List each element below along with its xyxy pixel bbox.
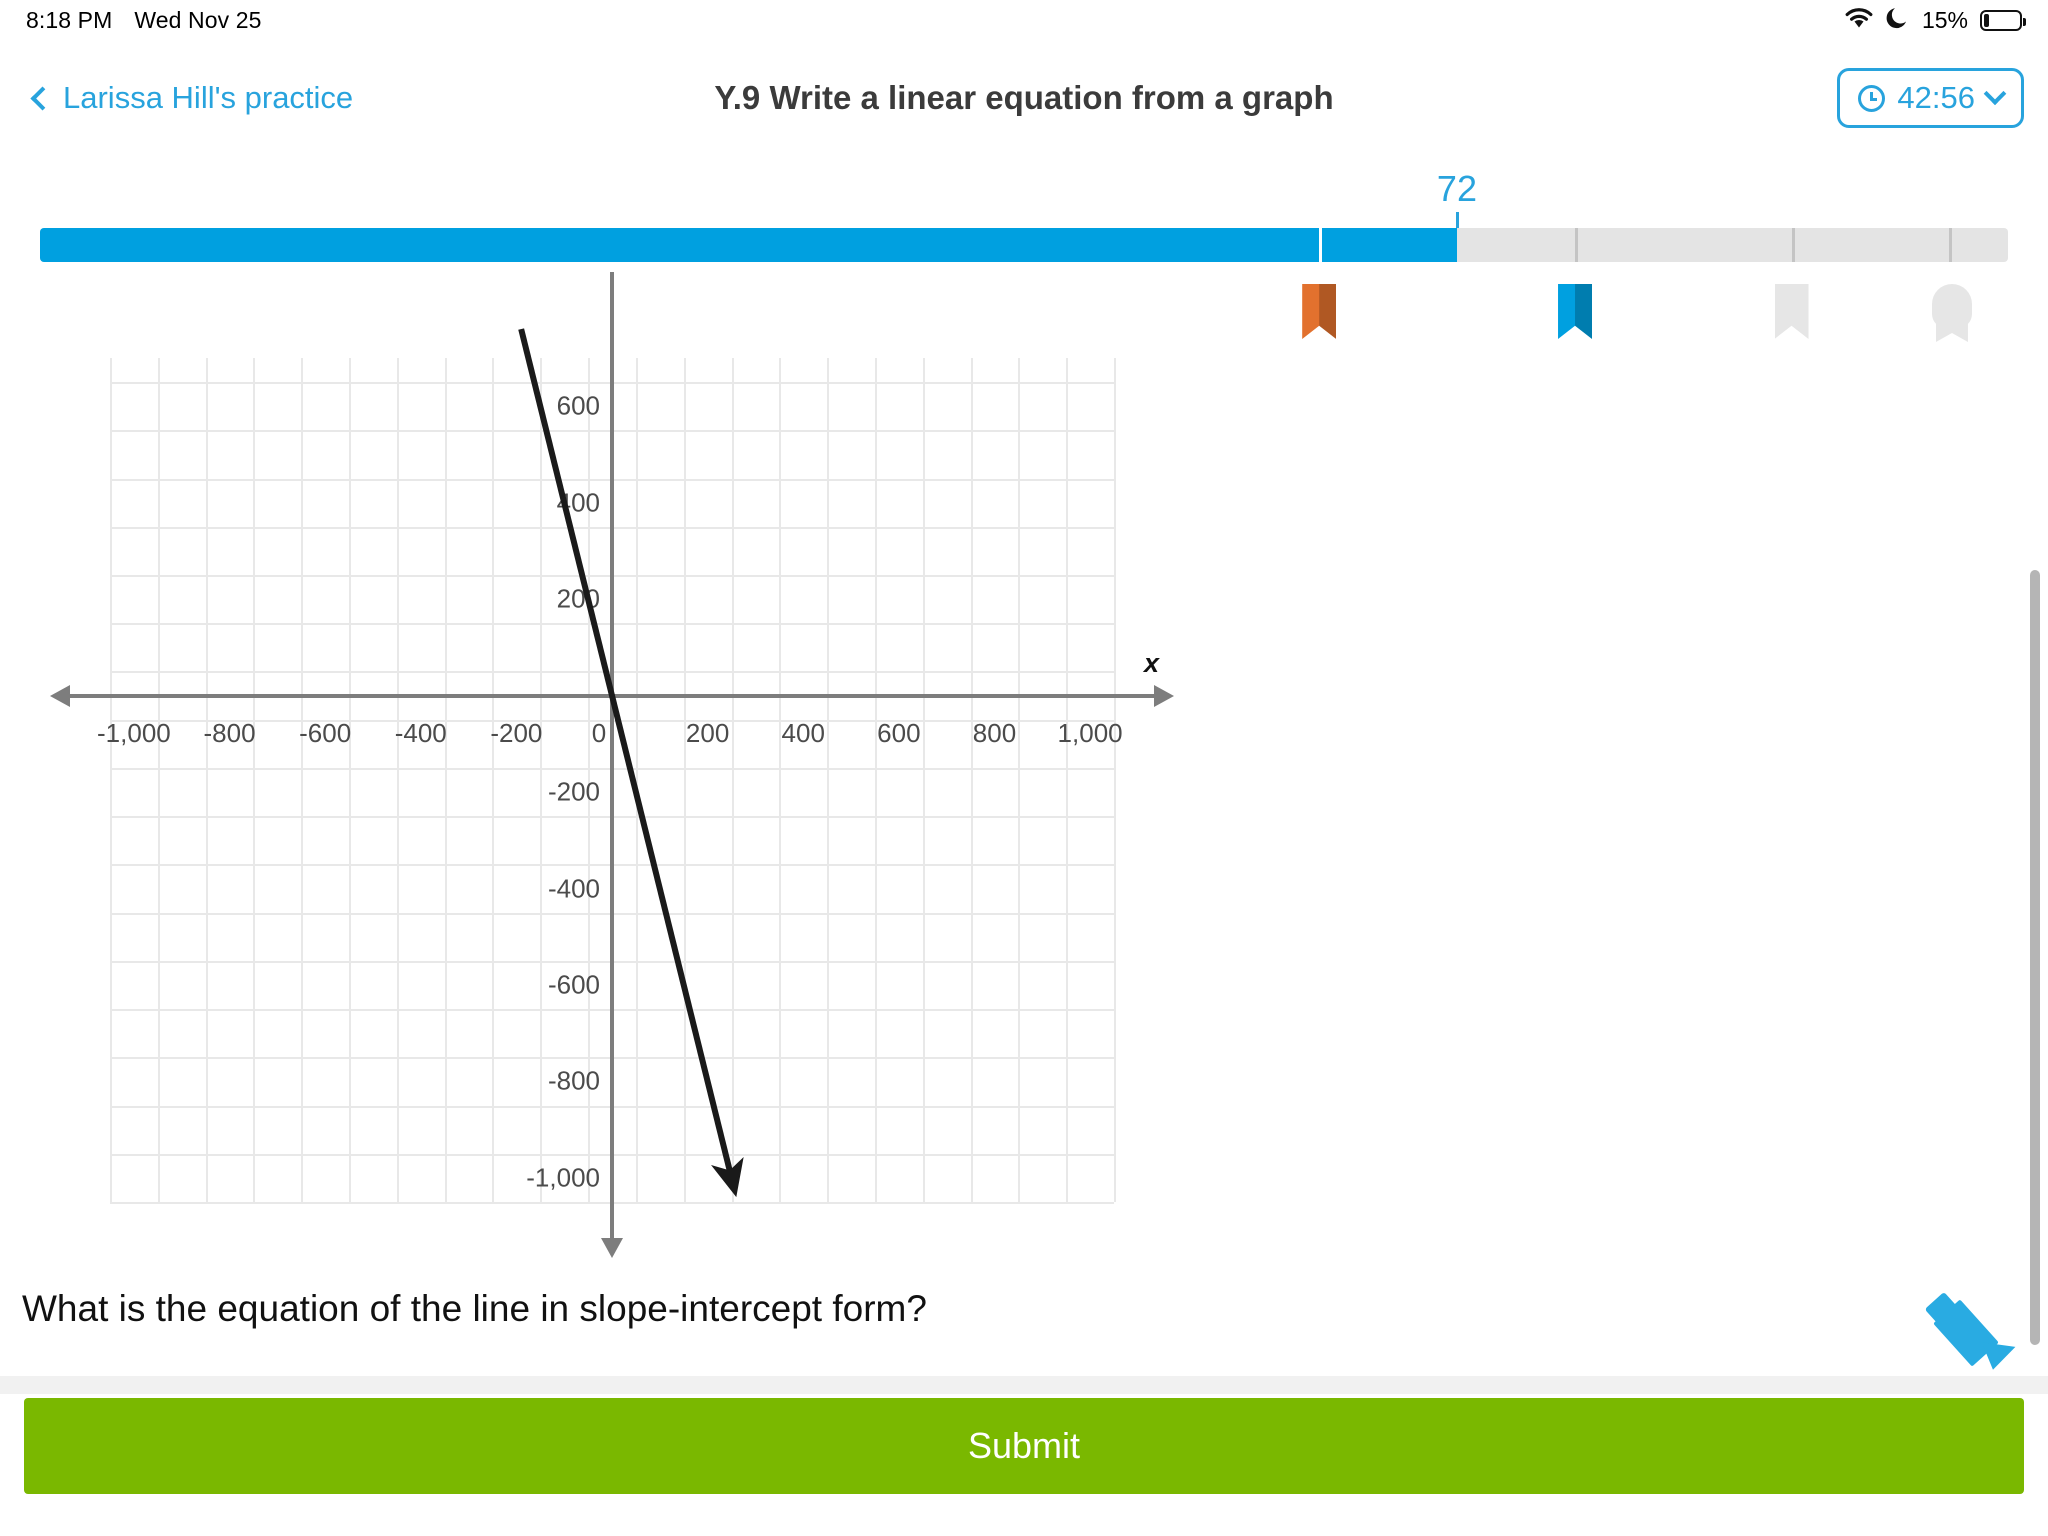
pencil-icon[interactable] xyxy=(1920,1278,2016,1374)
back-link-label: Larissa Hill's practice xyxy=(63,80,353,116)
timer-value: 42:56 xyxy=(1897,80,1975,116)
status-left: 8:18 PM Wed Nov 25 xyxy=(26,7,262,34)
battery-percent: 15% xyxy=(1922,7,1968,34)
progress-divider xyxy=(1949,228,1952,262)
moon-icon xyxy=(1886,6,1910,35)
chevron-down-icon xyxy=(1984,82,2007,105)
ribbon-gold-icon[interactable] xyxy=(1775,284,1809,339)
coordinate-graph: x -1,000-800-600-400-20002004006008001,0… xyxy=(110,358,1114,1202)
smart-score-label: 72 xyxy=(1437,168,1477,210)
footer-divider xyxy=(0,1376,2048,1394)
battery-icon xyxy=(1980,10,2022,31)
plotted-line xyxy=(0,238,1250,1338)
progress-divider xyxy=(1792,228,1795,262)
medal-mastery-icon[interactable] xyxy=(1932,284,1972,342)
vertical-scrollbar[interactable] xyxy=(2030,570,2040,1345)
status-time: 8:18 PM xyxy=(26,7,112,34)
clock-icon xyxy=(1858,85,1885,112)
chevron-left-icon xyxy=(30,86,54,110)
timer-button[interactable]: 42:56 xyxy=(1837,68,2024,128)
status-right: 15% xyxy=(1844,6,2022,35)
app-header: Larissa Hill's practice Y.9 Write a line… xyxy=(0,62,2048,134)
back-to-practice-link[interactable]: Larissa Hill's practice xyxy=(34,80,353,116)
ribbon-silver-icon[interactable] xyxy=(1558,284,1592,339)
status-date: Wed Nov 25 xyxy=(134,7,261,34)
page-title: Y.9 Write a linear equation from a graph xyxy=(714,79,1333,117)
progress-divider xyxy=(1319,228,1322,262)
ribbon-bronze-icon[interactable] xyxy=(1302,284,1336,339)
app-root: 8:18 PM Wed Nov 25 15% xyxy=(0,0,2048,1536)
wifi-icon xyxy=(1844,7,1874,34)
progress-divider xyxy=(1575,228,1578,262)
ios-status-bar: 8:18 PM Wed Nov 25 15% xyxy=(0,0,2048,40)
submit-button[interactable]: Submit xyxy=(24,1398,2024,1494)
question-text: What is the equation of the line in slop… xyxy=(22,1288,927,1330)
